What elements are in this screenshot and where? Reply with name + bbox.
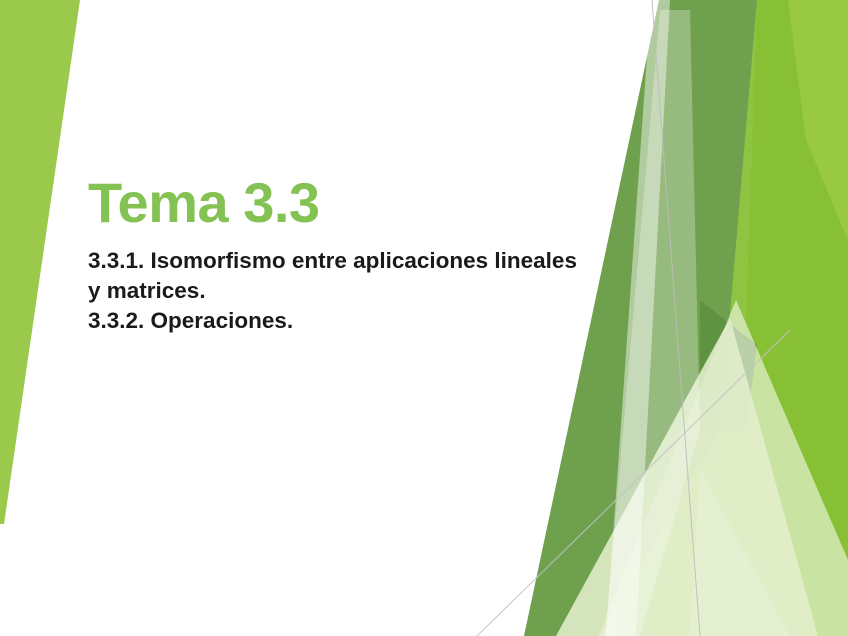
slide-subtitle: 3.3.1. Isomorfismo entre aplicaciones li… — [88, 246, 728, 336]
slide-subtitle-line-2: y matrices. — [88, 276, 728, 306]
slide-canvas: Tema 3.3 3.3.1. Isomorfismo entre aplica… — [0, 0, 848, 636]
slide-title: Tema 3.3 — [88, 174, 320, 233]
slide-subtitle-line-1: 3.3.1. Isomorfismo entre aplicaciones li… — [88, 246, 728, 276]
slide-text-layer: Tema 3.3 3.3.1. Isomorfismo entre aplica… — [0, 0, 848, 636]
slide-subtitle-line-3: 3.3.2. Operaciones. — [88, 306, 728, 336]
